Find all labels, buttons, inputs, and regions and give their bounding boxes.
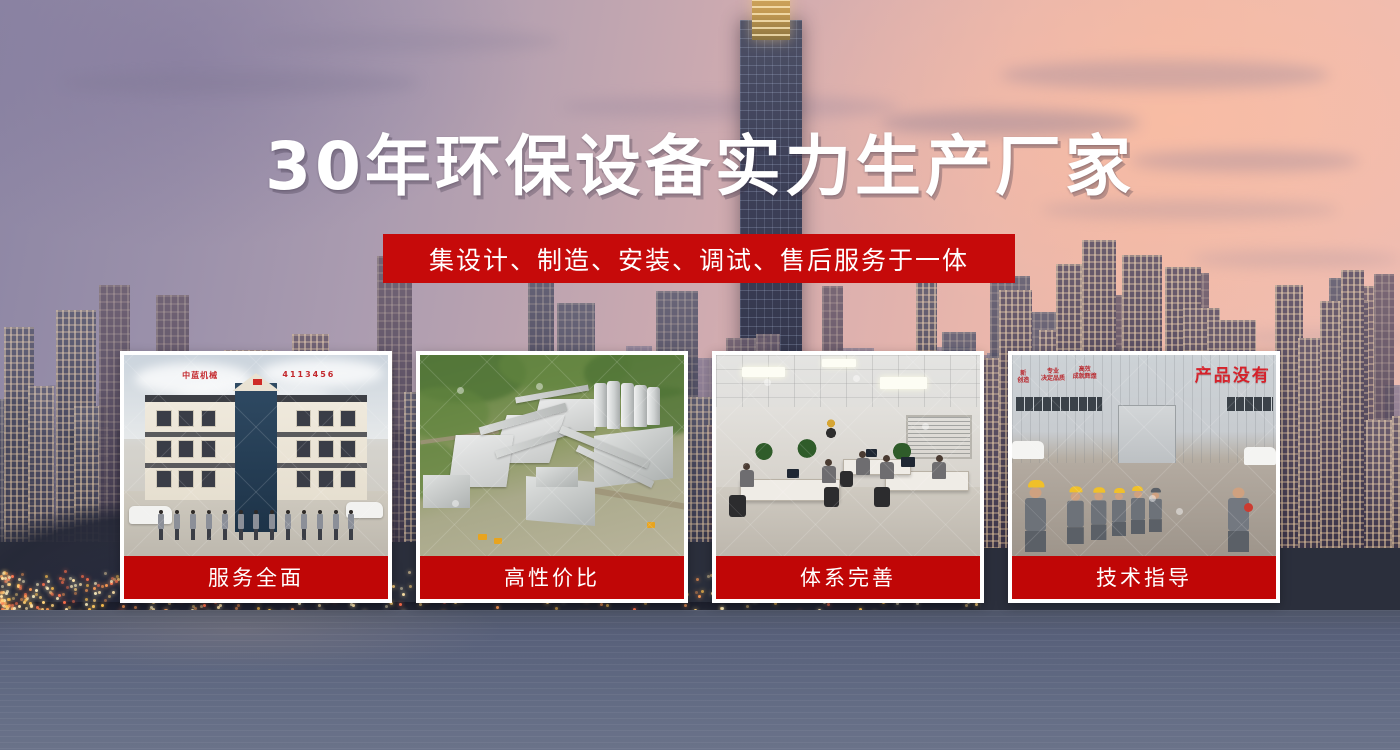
card-caption: 高性价比	[420, 556, 684, 599]
page-title: 30年环保设备实力生产厂家	[0, 128, 1400, 206]
waterfront-light	[684, 604, 687, 607]
card-photo-industrial-plant	[420, 355, 684, 556]
waterfront-light	[385, 605, 388, 608]
waterfront-light	[93, 587, 96, 590]
building-windows	[1298, 338, 1322, 548]
waterfront-light	[827, 603, 830, 606]
waterfront-light	[66, 586, 69, 589]
waterfront-light	[110, 580, 113, 583]
waterfront-light	[64, 570, 67, 573]
waterfront-light	[26, 597, 29, 600]
waterfront-light	[192, 605, 195, 608]
waterfront-light	[496, 606, 499, 609]
waterfront-light	[85, 589, 88, 592]
waterfront-light	[85, 598, 88, 601]
card-photo-company-building: 中蓝机械 4113456	[124, 355, 388, 556]
waterfront-light	[63, 601, 66, 604]
waterfront-light	[62, 593, 65, 596]
waterfront-light	[93, 599, 96, 602]
waterfront-light	[965, 604, 968, 607]
waterfront-light	[74, 592, 77, 595]
waterfront-light	[42, 583, 45, 586]
building-windows	[1392, 416, 1400, 548]
waterfront-light	[134, 606, 137, 609]
waterfront-light	[8, 576, 11, 579]
subtitle-banner: 集设计、制造、安装、调试、售后服务于一体	[383, 234, 1015, 283]
waterfront-light	[98, 591, 101, 594]
waterfront-light	[94, 592, 97, 595]
building-windows	[1341, 270, 1364, 548]
waterfront-light	[219, 604, 222, 607]
waterfront-light	[1, 599, 4, 602]
waterfront-light	[18, 605, 21, 608]
building-sign-text: 中蓝机械	[182, 370, 218, 381]
waterfront-light	[122, 605, 125, 608]
waterfront-light	[104, 599, 107, 602]
waterfront-light	[68, 606, 71, 609]
tower-crown	[752, 0, 790, 40]
factory-wall-text: 产品没有	[1195, 361, 1271, 386]
building	[1341, 270, 1364, 548]
waterfront-light	[24, 595, 27, 598]
subtitle-text: 集设计、制造、安装、调试、售后服务于一体	[429, 241, 969, 277]
waterfront-light	[24, 599, 27, 602]
waterfront-light	[61, 581, 64, 584]
waterfront-light	[72, 600, 75, 603]
waterfront-light	[79, 583, 82, 586]
waterfront-light	[72, 579, 75, 582]
waterfront-light	[6, 590, 9, 593]
card-caption: 技术指导	[1012, 556, 1276, 599]
waterfront-light	[0, 595, 3, 598]
feature-card[interactable]: 中蓝机械 4113456	[120, 351, 392, 603]
feature-card-row: 中蓝机械 4113456	[120, 351, 1280, 603]
waterfront-light	[35, 589, 38, 592]
waterfront-light	[51, 604, 54, 607]
waterfront-light	[419, 603, 422, 606]
waterfront-light	[112, 591, 115, 594]
waterfront-light	[15, 593, 18, 596]
river-reflection	[0, 610, 1400, 750]
waterfront-light	[975, 603, 978, 606]
waterfront-light	[74, 588, 77, 591]
waterfront-light	[606, 604, 609, 607]
card-photo-workers-factory: 产品没有 新创造 专业决定品质 高效成就辉煌	[1012, 355, 1276, 556]
waterfront-light	[74, 584, 77, 587]
waterfront-light	[101, 604, 104, 607]
waterfront-light	[12, 597, 15, 600]
waterfront-light	[45, 575, 48, 578]
waterfront-light	[0, 592, 3, 595]
waterfront-light	[86, 584, 89, 587]
waterfront-light	[115, 580, 118, 583]
waterfront-light	[3, 605, 6, 608]
feature-card[interactable]: 体系完善	[712, 351, 984, 603]
waterfront-light	[70, 585, 73, 588]
waterfront-light	[8, 598, 11, 601]
waterfront-light	[51, 593, 54, 596]
waterfront-light	[318, 604, 321, 607]
waterfront-light	[105, 584, 108, 587]
feature-card[interactable]: 高性价比	[416, 351, 688, 603]
waterfront-light	[19, 585, 22, 588]
waterfront-light	[4, 580, 7, 583]
waterfront-light	[11, 575, 14, 578]
waterfront-light	[81, 575, 84, 578]
waterfront-light	[2, 572, 5, 575]
waterfront-light	[746, 605, 749, 608]
waterfront-light	[8, 583, 11, 586]
waterfront-light	[51, 587, 54, 590]
card-caption: 体系完善	[716, 556, 980, 599]
waterfront-light	[600, 603, 603, 606]
card-photo-office-interior	[716, 355, 980, 556]
waterfront-light	[35, 593, 38, 596]
waterfront-light	[32, 595, 35, 598]
waterfront-light	[29, 588, 32, 591]
waterfront-light	[203, 604, 206, 607]
waterfront-light	[30, 604, 33, 607]
waterfront-light	[1, 577, 4, 580]
building	[1392, 416, 1400, 548]
waterfront-light	[85, 603, 88, 606]
card-caption: 服务全面	[124, 556, 388, 599]
waterfront-light	[92, 605, 95, 608]
waterfront-light	[104, 572, 107, 575]
waterfront-light	[39, 596, 42, 599]
building	[1298, 338, 1322, 548]
waterfront-light	[108, 595, 111, 598]
waterfront-light	[116, 575, 119, 578]
waterfront-light	[1, 585, 4, 588]
waterfront-light	[47, 580, 50, 583]
waterfront-light	[36, 583, 39, 586]
promotional-banner: 30年环保设备实力生产厂家 集设计、制造、安装、调试、售后服务于一体	[0, 0, 1400, 750]
waterfront-light	[56, 597, 59, 600]
waterfront-light	[101, 585, 104, 588]
feature-card[interactable]: 产品没有 新创造 专业决定品质 高效成就辉煌	[1008, 351, 1280, 603]
waterfront-light	[42, 601, 45, 604]
waterfront-light	[21, 573, 24, 576]
waterfront-light	[22, 580, 25, 583]
building-phone-text: 4113456	[282, 370, 335, 379]
waterfront-light	[18, 578, 21, 581]
waterfront-light	[86, 578, 89, 581]
waterfront-light	[69, 577, 72, 580]
